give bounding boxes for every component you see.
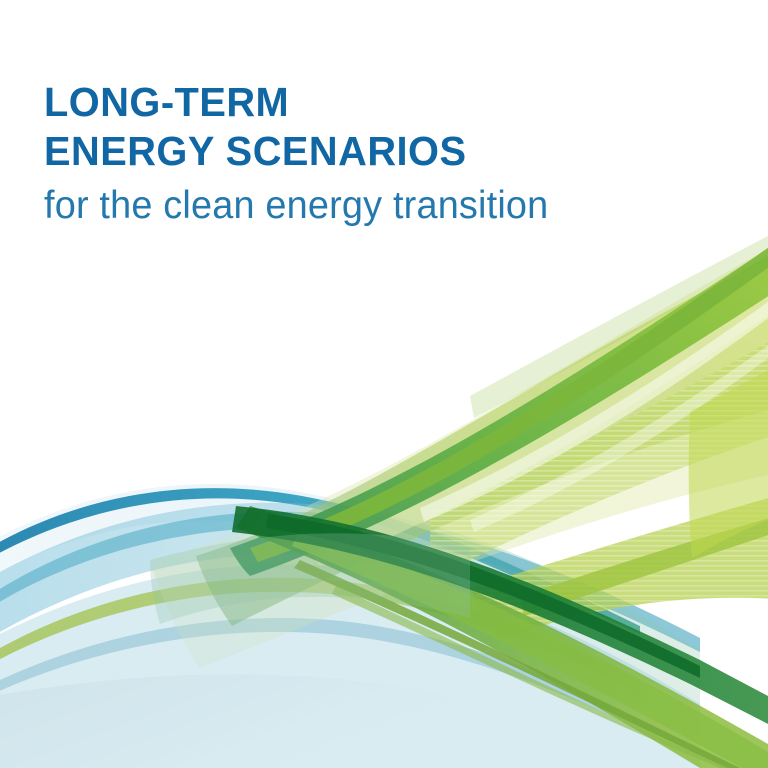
page-subtitle: for the clean energy transition	[44, 180, 675, 232]
page-title-line-2: ENERGY SCENARIOS	[44, 127, 675, 176]
page-title-line-1: LONG-TERM	[44, 78, 675, 127]
cover-page: LONG-TERM ENERGY SCENARIOS for the clean…	[0, 0, 768, 768]
title-block: LONG-TERM ENERGY SCENARIOS for the clean…	[44, 78, 694, 232]
